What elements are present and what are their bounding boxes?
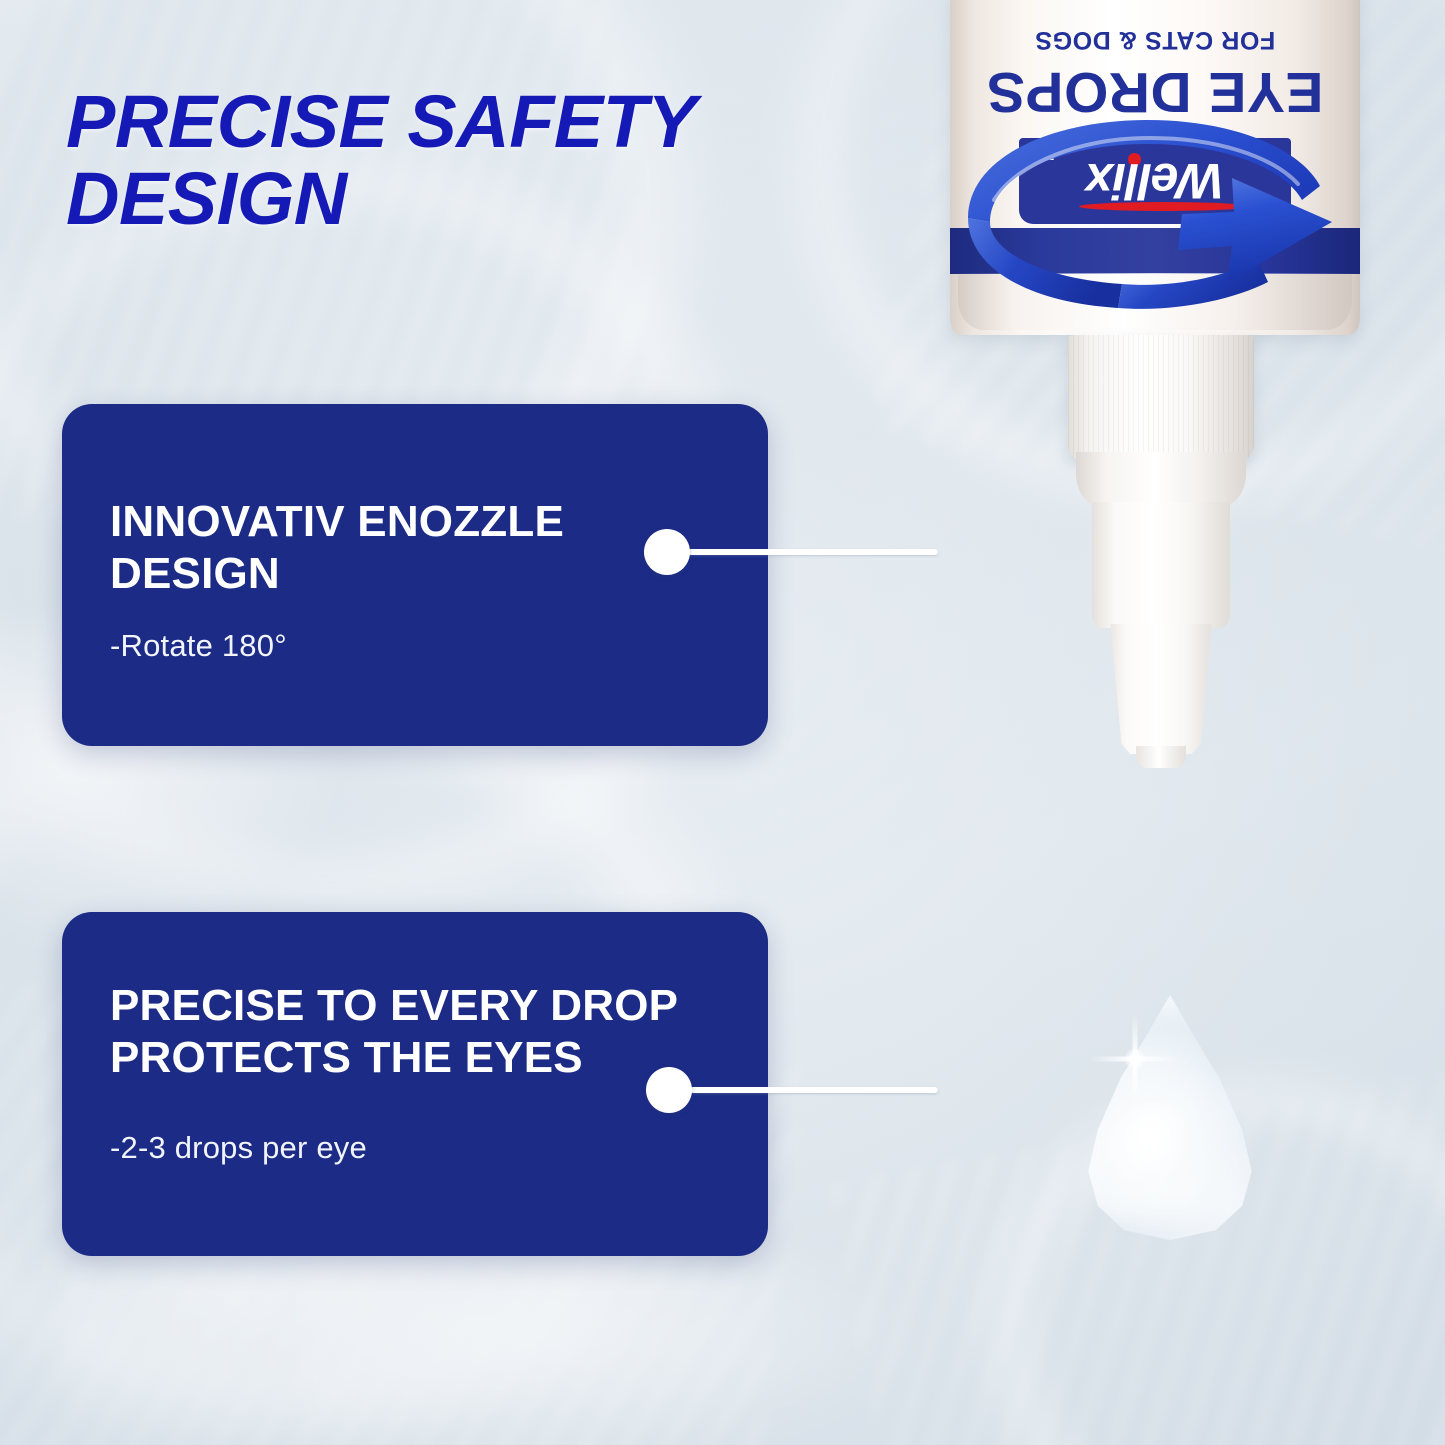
nozzle-upper-section	[1092, 502, 1230, 628]
page-title: PRECISE SAFETY DESIGN	[66, 84, 966, 238]
trademark-mark: TM	[1035, 148, 1054, 163]
label-product-name: EYE DROPS	[986, 63, 1323, 120]
page-title-line-1: PRECISE SAFETY	[66, 80, 696, 163]
connector-dot-icon-1	[644, 529, 690, 575]
bottle-cap-ribbed	[1068, 335, 1254, 460]
label-product-audience: FOR CATS & DOGS	[1035, 25, 1275, 54]
callout-card-nozzle-design[interactable]: INNOVATIV ENOZZLE DESIGN -Rotate 180°	[62, 404, 768, 746]
callout-subtitle: -2-3 drops per eye	[110, 1130, 367, 1166]
connector-line-1	[688, 549, 938, 555]
callout-title: PRECISE TO EVERY DROP PROTECTS THE EYES	[110, 980, 750, 1084]
brand-name: Wellix	[1086, 156, 1224, 206]
connector-line-2	[690, 1087, 938, 1093]
callout-title: INNOVATIV ENOZZLE DESIGN	[110, 496, 710, 600]
bottle-neck-band	[950, 228, 1360, 274]
connector-dot-icon-2	[646, 1067, 692, 1113]
product-bottle: Wellix TM EYE DROPS FOR CATS & DOGS	[940, 0, 1370, 990]
bottle-shoulder	[958, 274, 1352, 330]
nozzle-lower-cone	[1106, 624, 1216, 754]
sparkle-icon	[1089, 1013, 1181, 1105]
nozzle-tip	[1136, 746, 1186, 768]
brand-badge: Wellix TM	[1019, 138, 1291, 224]
bottle-label: Wellix TM EYE DROPS FOR CATS & DOGS	[950, 0, 1360, 230]
water-droplet-icon	[1075, 995, 1265, 1240]
bottle-cap-skirt	[1076, 452, 1246, 508]
page-title-line-2: DESIGN	[66, 161, 966, 238]
droplet-inner-highlight	[1124, 1103, 1196, 1186]
infographic-canvas: PRECISE SAFETY DESIGN INNOVATIV ENOZZLE …	[0, 0, 1445, 1445]
callout-subtitle: -Rotate 180°	[110, 628, 287, 664]
